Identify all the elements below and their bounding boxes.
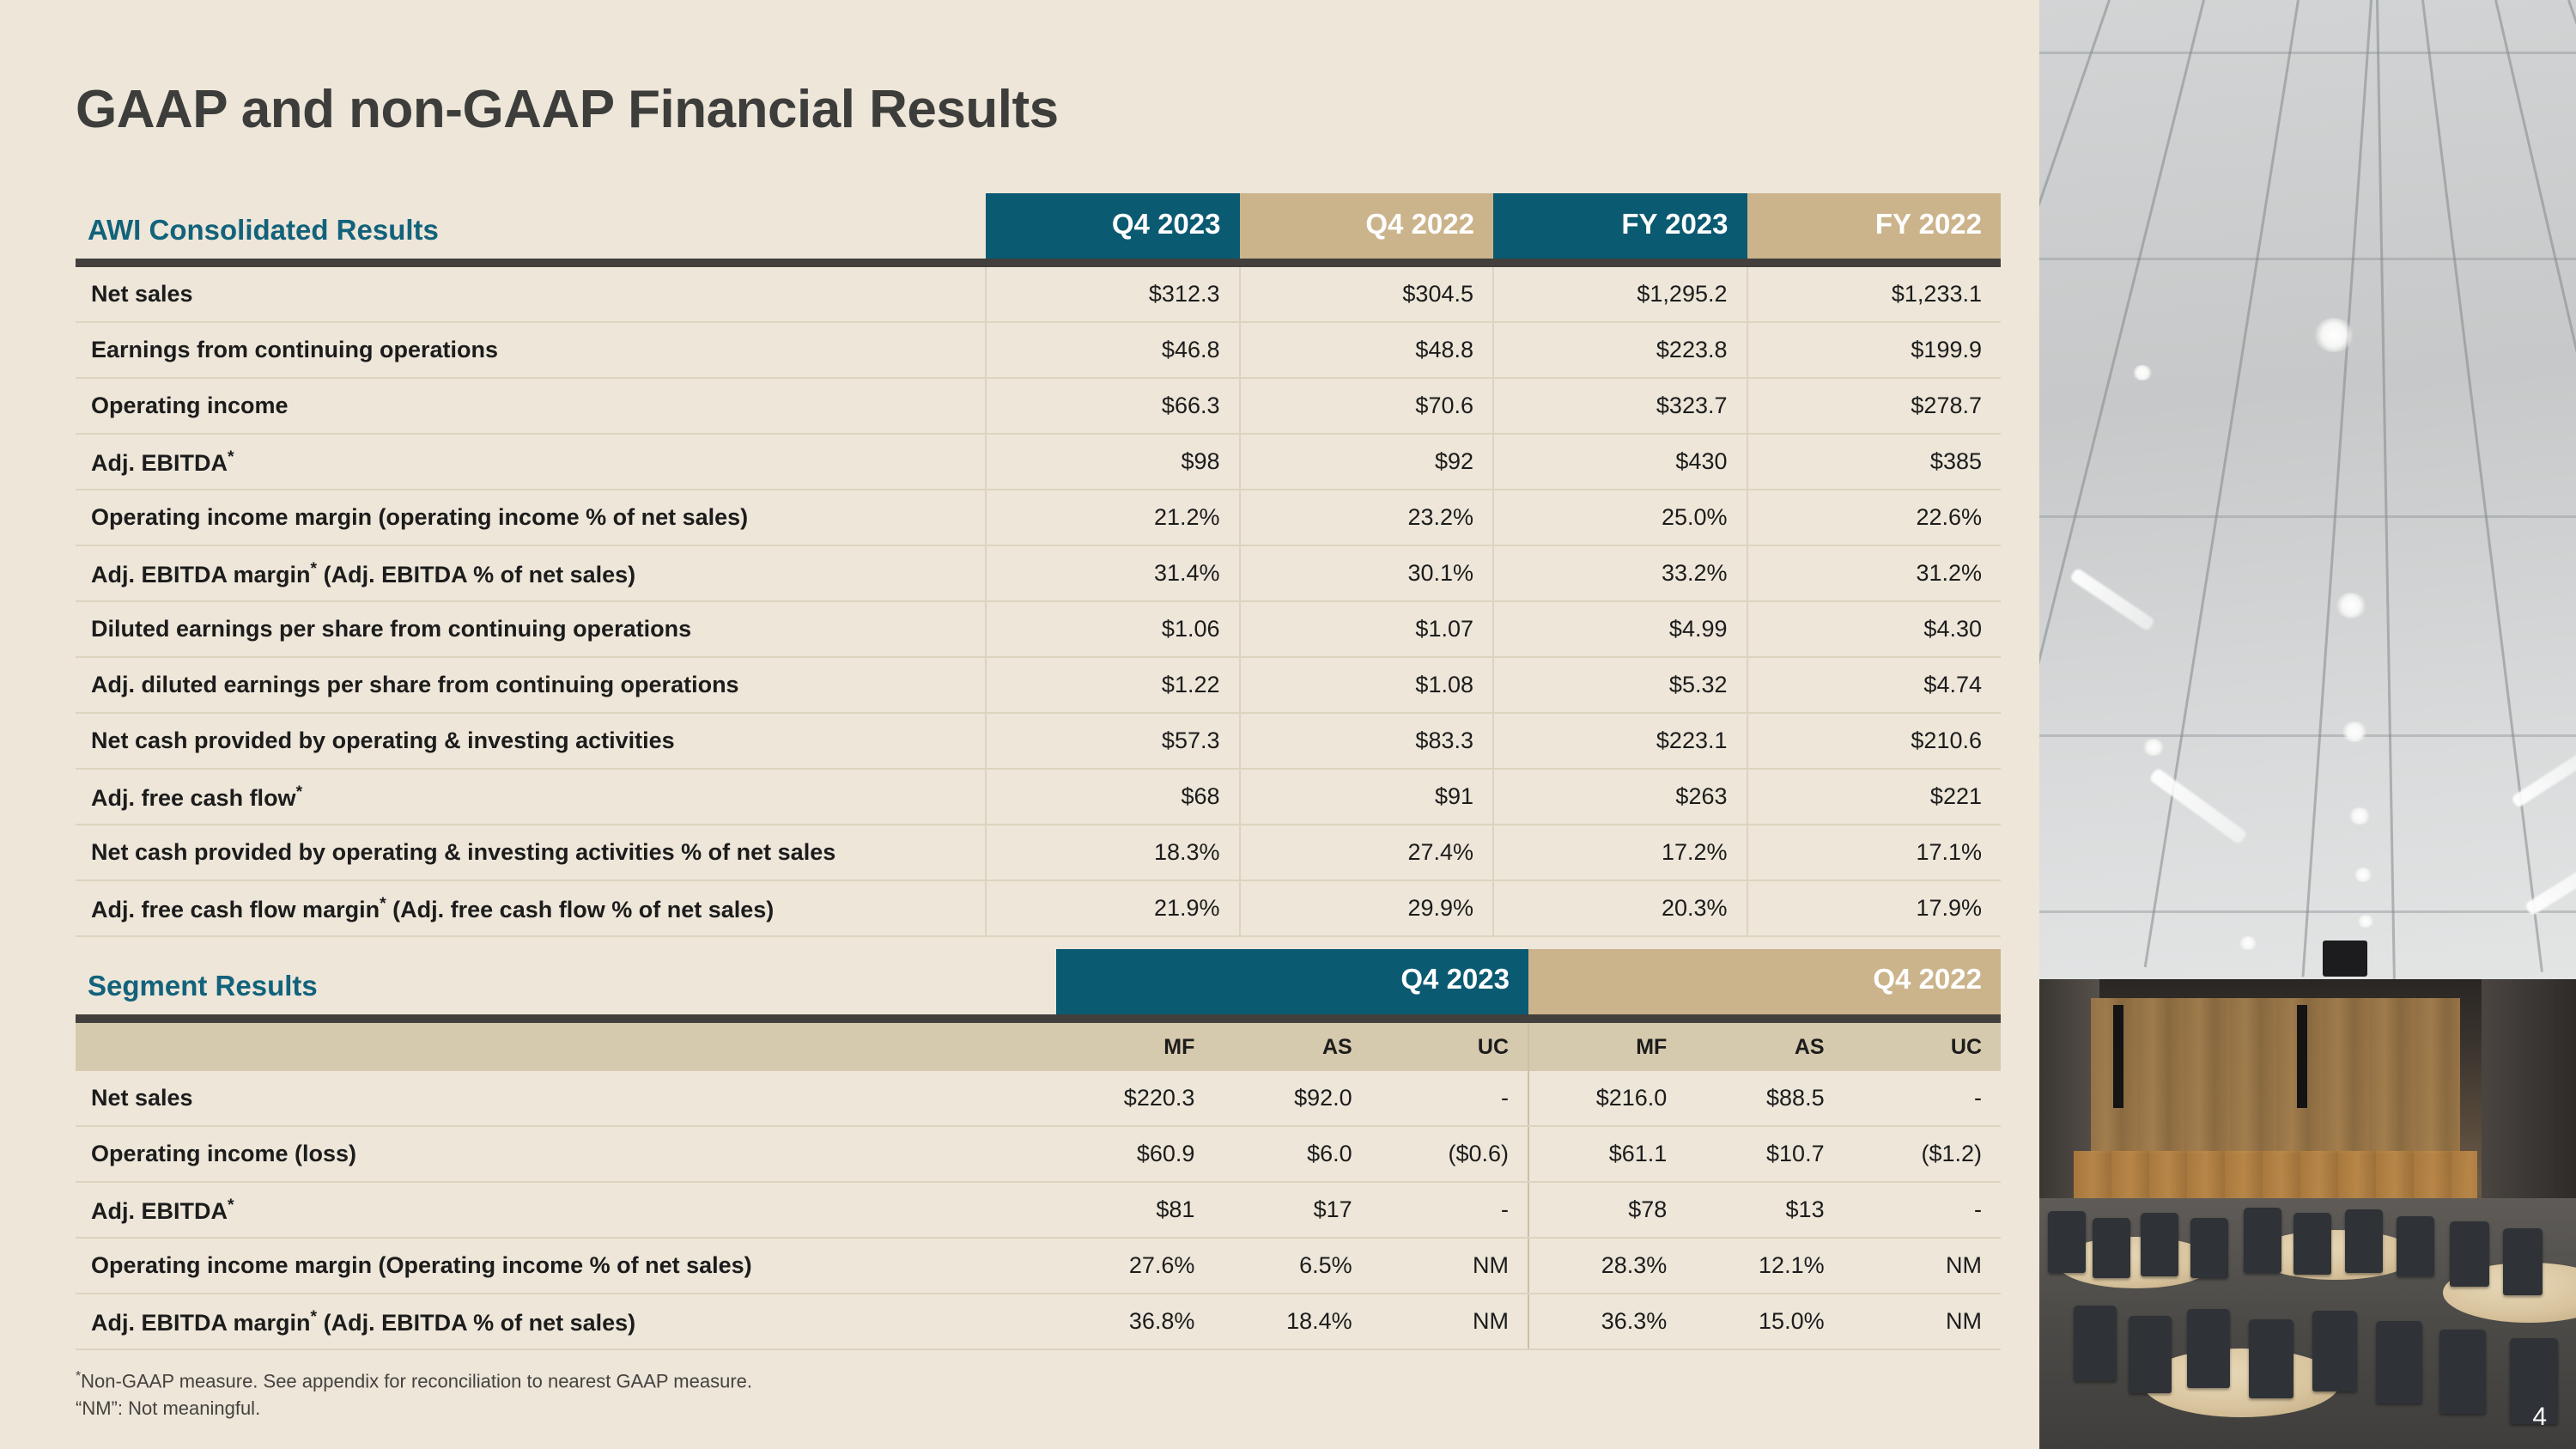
row-value: $304.5: [1240, 267, 1494, 322]
row-value: $278.7: [1747, 378, 2002, 434]
ceiling-light-icon: [2314, 318, 2354, 352]
row-value: $323.7: [1493, 378, 1747, 434]
row-value: 21.9%: [986, 880, 1240, 936]
ceiling-light-icon: [2342, 721, 2367, 742]
row-value: $91: [1240, 769, 1494, 825]
row-value: $92: [1240, 434, 1494, 490]
subheader-uc-q4-2023: UC: [1371, 1023, 1528, 1071]
row-value: $81: [1056, 1182, 1213, 1238]
row-value: -: [1371, 1182, 1528, 1238]
row-value: $70.6: [1240, 378, 1494, 434]
subheader-as-q4-2022: AS: [1686, 1023, 1843, 1071]
row-label: Net sales: [76, 1071, 1056, 1126]
row-value: $6.0: [1213, 1126, 1370, 1182]
row-value: 18.3%: [986, 825, 1240, 880]
row-value: $66.3: [986, 378, 1240, 434]
row-value: $61.1: [1528, 1126, 1686, 1182]
column-header-fy-2023[interactable]: FY 2023: [1493, 193, 1747, 259]
row-label: Adj. diluted earnings per share from con…: [76, 657, 986, 713]
row-label: Adj. EBITDA margin* (Adj. EBITDA % of ne…: [76, 1294, 1056, 1349]
row-label: Operating income margin (Operating incom…: [76, 1238, 1056, 1294]
row-value: 28.3%: [1528, 1238, 1686, 1294]
consolidated-section-title: AWI Consolidated Results: [76, 193, 986, 259]
smoke-detector-icon: [2132, 365, 2153, 381]
row-value: NM: [1844, 1238, 2001, 1294]
row-value: 17.2%: [1493, 825, 1747, 880]
page-number: 4: [2532, 1403, 2547, 1432]
table-row: Net cash provided by operating & investi…: [76, 825, 2001, 880]
row-label: Operating income (loss): [76, 1126, 1056, 1182]
row-value: $1.07: [1240, 601, 1494, 657]
row-label: Earnings from continuing operations: [76, 322, 986, 378]
group-header-q4-2023[interactable]: Q4 2023: [1056, 949, 1528, 1014]
row-value: 29.9%: [1240, 880, 1494, 936]
row-value: $210.6: [1747, 713, 2002, 769]
row-value: $1,295.2: [1493, 267, 1747, 322]
row-value: $83.3: [1240, 713, 1494, 769]
group-header-q4-2022[interactable]: Q4 2022: [1528, 949, 2001, 1014]
segment-section-title: Segment Results: [76, 949, 1056, 1014]
row-label: Net sales: [76, 267, 986, 322]
row-value: $385: [1747, 434, 2002, 490]
row-value: 22.6%: [1747, 490, 2002, 545]
office-interior-photo: 4: [2039, 0, 2576, 1449]
row-value: $60.9: [1056, 1126, 1213, 1182]
row-label: Adj. EBITDA*: [76, 1182, 1056, 1238]
row-value: 18.4%: [1213, 1294, 1370, 1349]
table-row: Adj. EBITDA margin* (Adj. EBITDA % of ne…: [76, 1294, 2001, 1349]
row-value: -: [1371, 1071, 1528, 1126]
ceiling-light-icon: [2336, 593, 2366, 618]
row-value: $4.30: [1747, 601, 2002, 657]
segment-subheader-row: MF AS UC MF AS UC: [76, 1023, 2001, 1071]
projector-icon: [2323, 941, 2367, 977]
row-value: 20.3%: [1493, 880, 1747, 936]
row-value: NM: [1371, 1238, 1528, 1294]
row-value: $57.3: [986, 713, 1240, 769]
row-value: $1.22: [986, 657, 1240, 713]
row-value: $88.5: [1686, 1071, 1843, 1126]
table-row: Operating income margin (Operating incom…: [76, 1238, 2001, 1294]
row-value: $1.08: [1240, 657, 1494, 713]
ceiling-light-icon: [2354, 868, 2372, 882]
ceiling-light-icon: [2357, 915, 2374, 928]
footnote-nm: “NM”: Not meaningful.: [76, 1395, 752, 1422]
table-row: Net sales $312.3 $304.5 $1,295.2 $1,233.…: [76, 267, 2001, 322]
row-label: Operating income: [76, 378, 986, 434]
column-header-fy-2022[interactable]: FY 2022: [1747, 193, 2002, 259]
awi-consolidated-results-table: AWI Consolidated Results Q4 2023 Q4 2022…: [76, 193, 2001, 937]
row-value: $220.3: [1056, 1071, 1213, 1126]
row-value: NM: [1844, 1294, 2001, 1349]
column-header-q4-2022[interactable]: Q4 2022: [1240, 193, 1494, 259]
row-value: -: [1844, 1071, 2001, 1126]
row-value: $223.8: [1493, 322, 1747, 378]
row-label: Adj. EBITDA*: [76, 434, 986, 490]
table-row: Adj. EBITDA* $98 $92 $430 $385: [76, 434, 2001, 490]
table-row: Adj. free cash flow margin* (Adj. free c…: [76, 880, 2001, 936]
row-value: $13: [1686, 1182, 1843, 1238]
row-value: 27.4%: [1240, 825, 1494, 880]
table-row: Adj. diluted earnings per share from con…: [76, 657, 2001, 713]
row-label: Net cash provided by operating & investi…: [76, 713, 986, 769]
row-value: 17.9%: [1747, 880, 2002, 936]
row-value: 12.1%: [1686, 1238, 1843, 1294]
row-value: $98: [986, 434, 1240, 490]
row-value: $4.74: [1747, 657, 2002, 713]
consolidated-header-rule: [76, 259, 2001, 267]
row-value: $216.0: [1528, 1071, 1686, 1126]
subheader-as-q4-2023: AS: [1213, 1023, 1370, 1071]
subheader-uc-q4-2022: UC: [1844, 1023, 2001, 1071]
table-row: Adj. EBITDA margin* (Adj. EBITDA % of ne…: [76, 545, 2001, 601]
segment-subheader-spacer: [76, 1023, 1056, 1071]
row-value: 17.1%: [1747, 825, 2002, 880]
row-value: $10.7: [1686, 1126, 1843, 1182]
row-value: $46.8: [986, 322, 1240, 378]
row-value: ($1.2): [1844, 1126, 2001, 1182]
row-value: -: [1844, 1182, 2001, 1238]
segment-results-table: Segment Results Q4 2023 Q4 2022 MF AS UC…: [76, 949, 2001, 1350]
page-title: GAAP and non-GAAP Financial Results: [76, 79, 1059, 140]
row-value: 31.4%: [986, 545, 1240, 601]
row-value: 36.8%: [1056, 1294, 1213, 1349]
consolidated-header-row: AWI Consolidated Results Q4 2023 Q4 2022…: [76, 193, 2001, 259]
table-row: Adj. free cash flow* $68 $91 $263 $221: [76, 769, 2001, 825]
subheader-mf-q4-2023: MF: [1056, 1023, 1213, 1071]
row-label: Operating income margin (operating incom…: [76, 490, 986, 545]
row-value: $68: [986, 769, 1240, 825]
table-row: Earnings from continuing operations $46.…: [76, 322, 2001, 378]
row-value: $1,233.1: [1747, 267, 2002, 322]
row-label: Adj. free cash flow margin* (Adj. free c…: [76, 880, 986, 936]
row-value: 27.6%: [1056, 1238, 1213, 1294]
row-value: $48.8: [1240, 322, 1494, 378]
row-value: $199.9: [1747, 322, 2002, 378]
row-value: 21.2%: [986, 490, 1240, 545]
segment-header-rule: [76, 1014, 2001, 1023]
row-value: $92.0: [1213, 1071, 1370, 1126]
row-label: Adj. EBITDA margin* (Adj. EBITDA % of ne…: [76, 545, 986, 601]
row-value: 33.2%: [1493, 545, 1747, 601]
table-row: Operating income $66.3 $70.6 $323.7 $278…: [76, 378, 2001, 434]
row-value: 6.5%: [1213, 1238, 1370, 1294]
row-value: ($0.6): [1371, 1126, 1528, 1182]
row-label: Adj. free cash flow*: [76, 769, 986, 825]
row-value: $4.99: [1493, 601, 1747, 657]
table-row: Net sales $220.3 $92.0 - $216.0 $88.5 -: [76, 1071, 2001, 1126]
row-value: $312.3: [986, 267, 1240, 322]
row-value: 36.3%: [1528, 1294, 1686, 1349]
footnote-nongaap: *Non-GAAP measure. See appendix for reco…: [76, 1367, 752, 1395]
table-row: Diluted earnings per share from continui…: [76, 601, 2001, 657]
row-value: 15.0%: [1686, 1294, 1843, 1349]
row-value: NM: [1371, 1294, 1528, 1349]
row-label: Net cash provided by operating & investi…: [76, 825, 986, 880]
ceiling-photo-region: [2039, 0, 2576, 979]
row-value: $430: [1493, 434, 1747, 490]
row-value: $1.06: [986, 601, 1240, 657]
row-value: $17: [1213, 1182, 1370, 1238]
subheader-mf-q4-2022: MF: [1528, 1023, 1686, 1071]
footnotes: *Non-GAAP measure. See appendix for reco…: [76, 1367, 752, 1422]
row-value: 25.0%: [1493, 490, 1747, 545]
row-value: $5.32: [1493, 657, 1747, 713]
row-value: 30.1%: [1240, 545, 1494, 601]
conference-room-photo-region: [2039, 979, 2576, 1449]
row-value: $263: [1493, 769, 1747, 825]
ceiling-light-icon: [2348, 807, 2371, 825]
row-value: 31.2%: [1747, 545, 2002, 601]
row-value: 23.2%: [1240, 490, 1494, 545]
row-value: $223.1: [1493, 713, 1747, 769]
segment-header-row: Segment Results Q4 2023 Q4 2022: [76, 949, 2001, 1014]
column-header-q4-2023[interactable]: Q4 2023: [986, 193, 1240, 259]
row-label: Diluted earnings per share from continui…: [76, 601, 986, 657]
table-row: Adj. EBITDA* $81 $17 - $78 $13 -: [76, 1182, 2001, 1238]
table-row: Operating income (loss) $60.9 $6.0 ($0.6…: [76, 1126, 2001, 1182]
row-value: $221: [1747, 769, 2002, 825]
table-row: Net cash provided by operating & investi…: [76, 713, 2001, 769]
row-value: $78: [1528, 1182, 1686, 1238]
table-row: Operating income margin (operating incom…: [76, 490, 2001, 545]
slide-canvas: 4 GAAP and non-GAAP Financial Results AW…: [0, 0, 2576, 1449]
round-table: [2142, 1349, 2340, 1417]
